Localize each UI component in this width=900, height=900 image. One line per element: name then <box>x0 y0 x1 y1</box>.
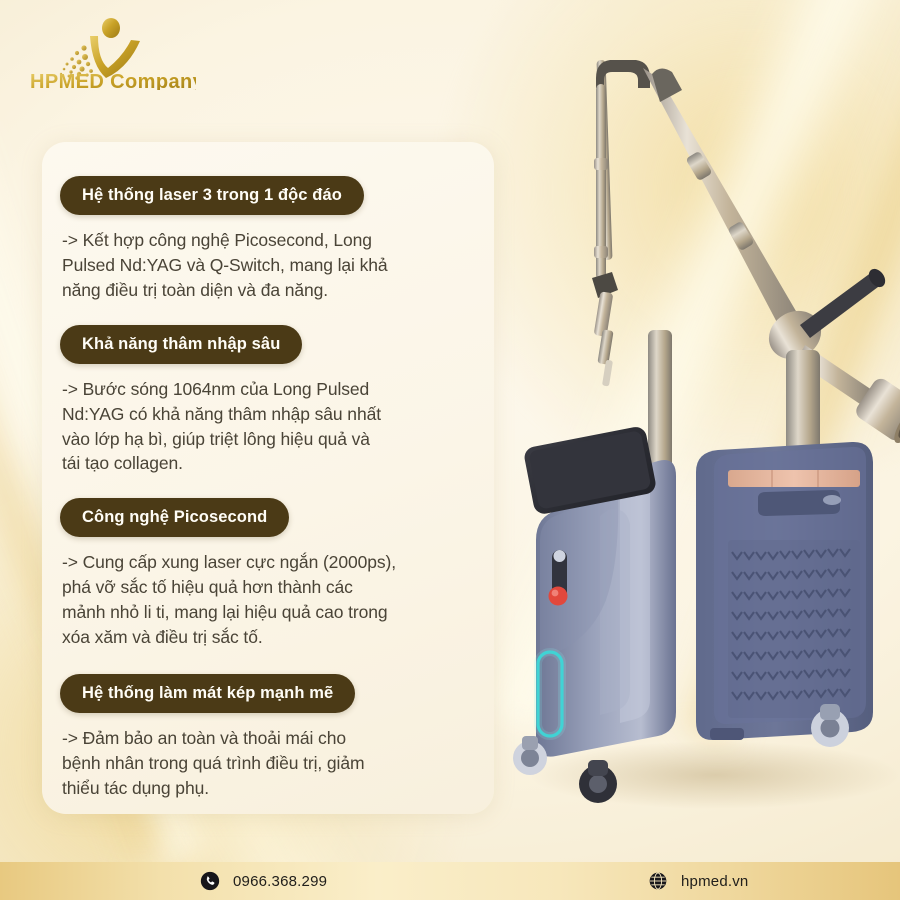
poster-canvas: HPMED Company <box>0 0 900 900</box>
feature-block: Công nghệ Picosecond -> Cung cấp xung la… <box>42 498 494 650</box>
svg-text:HPMED Company: HPMED Company <box>30 71 196 90</box>
person-growth-logo-icon: HPMED Company <box>28 14 196 90</box>
feature-badge-4[interactable]: Hệ thống làm mát kép mạnh mẽ <box>60 674 355 713</box>
footer-website-text: hpmed.vn <box>681 873 748 890</box>
footer-phone-text: 0966.368.299 <box>233 873 327 890</box>
feature-badge-3[interactable]: Công nghệ Picosecond <box>60 498 289 537</box>
feature-desc-4: -> Đảm bảo an toàn và thoải mái cho bệnh… <box>62 726 476 801</box>
feature-desc-1: -> Kết hợp công nghệ Picosecond, Long Pu… <box>62 228 476 303</box>
phone-icon <box>200 871 220 891</box>
feature-badge-2[interactable]: Khả năng thâm nhập sâu <box>60 325 302 364</box>
feature-list: Hệ thống laser 3 trong 1 độc đáo -> Kết … <box>42 142 494 814</box>
laser-machine-illustration <box>500 40 900 830</box>
footer-bar: 0966.368.299 hpmed.vn <box>0 862 900 900</box>
feature-block: Hệ thống laser 3 trong 1 độc đáo -> Kết … <box>42 176 494 303</box>
globe-icon <box>648 871 668 891</box>
brand-logo: HPMED Company <box>28 14 196 90</box>
feature-badge-1[interactable]: Hệ thống laser 3 trong 1 độc đáo <box>60 176 364 215</box>
vent-grille <box>728 540 860 718</box>
footer-phone[interactable]: 0966.368.299 <box>200 871 327 891</box>
feature-desc-2: -> Bước sóng 1064nm của Long Pulsed Nd:Y… <box>62 377 476 476</box>
footer-website[interactable]: hpmed.vn <box>648 871 748 891</box>
feature-block: Khả năng thâm nhập sâu -> Bước sóng 1064… <box>42 325 494 477</box>
feature-block: Hệ thống làm mát kép mạnh mẽ -> Đảm bảo … <box>42 674 494 801</box>
feature-desc-3: -> Cung cấp xung laser cực ngắn (2000ps)… <box>62 550 476 649</box>
